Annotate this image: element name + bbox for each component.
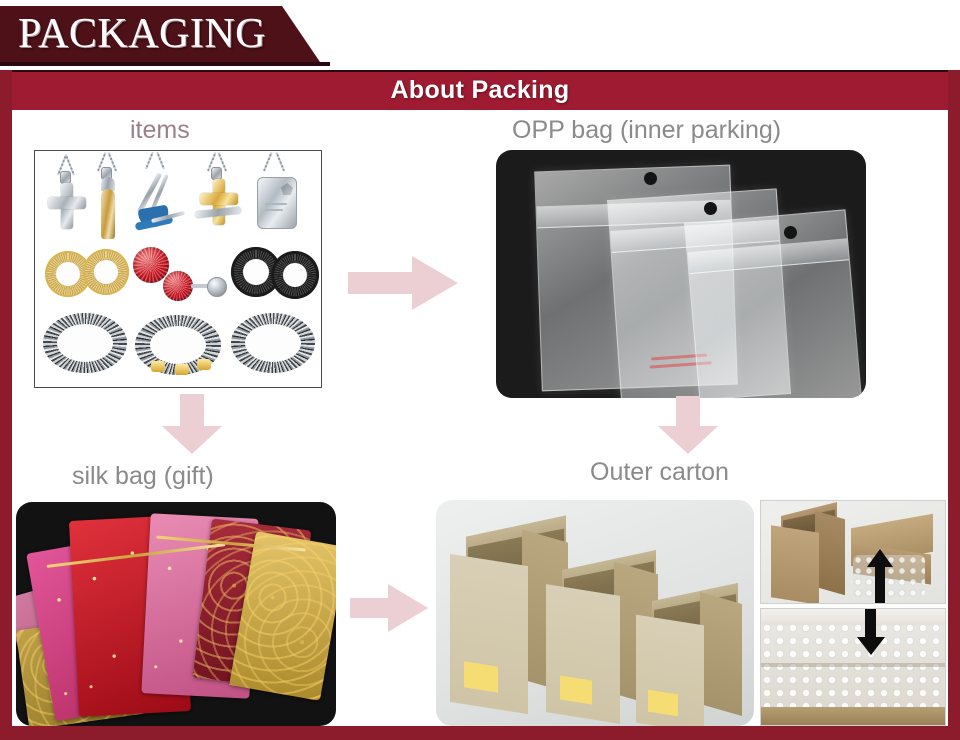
- up-arrow-head: [867, 549, 893, 567]
- silk-gift-bag-photo: [16, 502, 336, 726]
- bubble-wrap-photo: [760, 608, 946, 726]
- items-label: items: [130, 116, 190, 145]
- outer-carton-label: Outer carton: [590, 458, 729, 487]
- packaging-tab-underline: [0, 62, 330, 66]
- red-gem-stud-earring: [163, 269, 233, 309]
- frame-bottom-border: [0, 726, 960, 740]
- small-kraft-box-open: [767, 509, 849, 595]
- arrow-silk-to-carton: [350, 580, 438, 636]
- silver-cross-pendant: [47, 183, 87, 241]
- frame-right-border: [948, 70, 960, 740]
- frame-left-border: [0, 70, 12, 740]
- arrow-items-to-silk: [160, 394, 226, 456]
- dog-tag-pendant: [253, 173, 305, 235]
- packaging-tab: PACKAGING: [0, 6, 340, 64]
- gold-cross-pendant: [195, 179, 243, 241]
- packaging-tab-label: PACKAGING: [18, 10, 266, 58]
- silver-link-bracelet: [43, 313, 127, 375]
- bullet-pendant: [97, 177, 119, 243]
- opp-bag-hang-hole: [704, 202, 717, 215]
- opp-bag-item: [684, 209, 862, 398]
- content-stage: items OPP bag (inner parking) silk bag (…: [12, 110, 948, 726]
- packaging-infographic: PACKAGING About Packing items OPP bag (i…: [0, 0, 960, 740]
- outer-carton-photo: [436, 500, 754, 726]
- blue-anchor-pendant: [131, 167, 187, 241]
- up-arrow-shaft: [875, 563, 885, 604]
- jewelry-items-photo: [34, 150, 322, 388]
- arrow-opp-to-carton: [656, 396, 722, 458]
- silver-gold-link-bracelet: [135, 315, 221, 377]
- opp-bag-photo: [496, 150, 866, 398]
- carton-small: [632, 592, 750, 722]
- chain: [276, 152, 285, 171]
- opp-bag-hang-hole: [784, 226, 797, 239]
- silver-black-link-bracelet: [231, 313, 315, 375]
- chain: [263, 152, 272, 171]
- down-arrow-shaft: [865, 609, 876, 639]
- arrow-items-to-opp: [348, 252, 468, 314]
- down-arrow-head: [857, 637, 885, 655]
- silk-bag-label: silk bag (gift): [72, 462, 214, 491]
- carton-with-bubblewrap-photo: [760, 500, 946, 604]
- about-packing-title: About Packing: [0, 70, 960, 110]
- opp-bag-hang-hole: [644, 172, 657, 185]
- opp-bag-label: OPP bag (inner parking): [512, 116, 781, 145]
